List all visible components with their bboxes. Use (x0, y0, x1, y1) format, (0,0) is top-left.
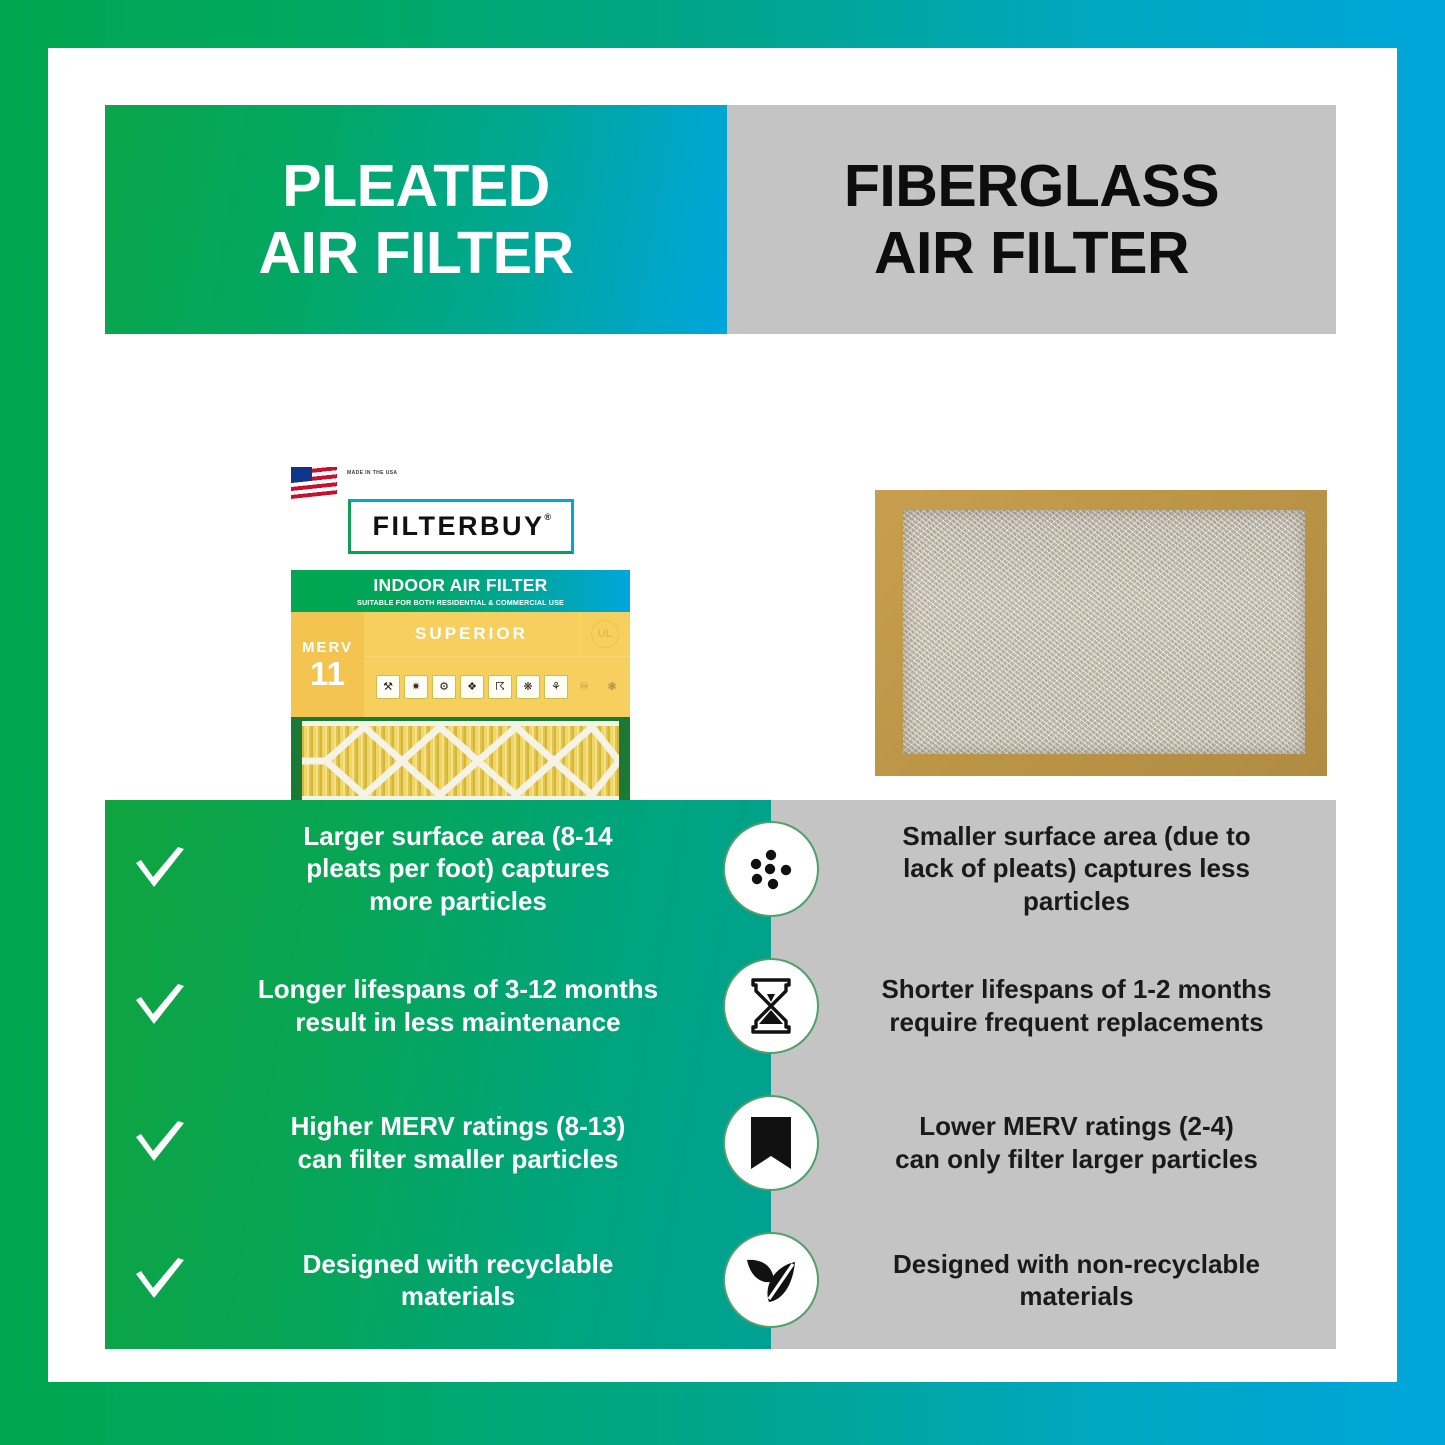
band-main-text: INDOOR AIR FILTER (373, 575, 547, 596)
merv-value: 11 (310, 657, 345, 690)
trademark-symbol: ® (544, 512, 553, 522)
tier-row: SUPERIOR UL (364, 612, 630, 657)
smoke-icon: ♾ (572, 675, 596, 699)
checkmark-icon (127, 1258, 193, 1302)
feature-right-cell: Smaller surface area (due to lack of ple… (771, 820, 1336, 918)
hourglass-icon (723, 958, 819, 1054)
feature-right-cell: Shorter lifespans of 1-2 months require … (771, 973, 1336, 1039)
feature-comparison-grid: Larger surface area (8-14 pleats per foo… (105, 800, 1336, 1349)
feature-row: Larger surface area (8-14 pleats per foo… (105, 800, 1336, 937)
merv-section: MERV 11 SUPERIOR UL ⚒ (291, 612, 630, 717)
feature-row: Designed with recyclable materials (105, 1212, 1336, 1349)
product-box-top: MADE IN THE USA FILTERBUY® (291, 467, 630, 570)
leaves-icon (723, 1232, 819, 1328)
bookmark-ribbon-icon (723, 1095, 819, 1191)
feature-left-cell: Higher MERV ratings (8-13) can filter sm… (105, 1110, 771, 1176)
white-card: PLEATED AIR FILTER FIBERGLASS AIR FILTER… (48, 48, 1397, 1382)
feature-center-icon (723, 1095, 819, 1191)
feature-right-text: Shorter lifespans of 1-2 months require … (833, 973, 1320, 1039)
merv-details: SUPERIOR UL ⚒ ✷ ⚙ ❖ ☈ (364, 612, 630, 717)
fiberglass-mesh (903, 510, 1305, 754)
header-pleated-title: PLEATED AIR FILTER (248, 153, 583, 286)
ul-seal-icon: UL (591, 620, 619, 648)
mold-spores-icon: ❖ (460, 675, 484, 699)
feature-right-text: Smaller surface area (due to lack of ple… (833, 820, 1320, 918)
feature-row: Longer lifespans of 3-12 months result i… (105, 937, 1336, 1074)
feature-center-icon (723, 1232, 819, 1328)
feature-rows: Larger surface area (8-14 pleats per foo… (105, 800, 1336, 1349)
feature-right-cell: Lower MERV ratings (2-4) can only filter… (771, 1110, 1336, 1176)
checkmark-icon (127, 847, 193, 891)
dust-icon: ⚒ (376, 675, 400, 699)
content-area: PLEATED AIR FILTER FIBERGLASS AIR FILTER… (105, 105, 1336, 1349)
tier-label: SUPERIOR (364, 624, 579, 644)
virus-icon: ⚙ (432, 675, 456, 699)
band-sub-text: SUITABLE FOR BOTH RESIDENTIAL & COMMERCI… (357, 598, 564, 607)
indoor-air-filter-band: INDOOR AIR FILTER SUITABLE FOR BOTH RESI… (291, 570, 630, 612)
pleat-media (302, 721, 619, 802)
feature-right-cell: Designed with non-recyclable materials (771, 1248, 1336, 1314)
fiberglass-filter-product-image (875, 490, 1327, 776)
feature-left-text: Higher MERV ratings (8-13) can filter sm… (193, 1110, 771, 1176)
feature-left-text: Larger surface area (8-14 pleats per foo… (193, 820, 771, 918)
merv-label: MERV (302, 639, 353, 656)
checkmark-icon (127, 984, 193, 1028)
made-in-usa-label: MADE IN THE USA (347, 470, 397, 477)
feature-right-text: Designed with non-recyclable materials (833, 1248, 1320, 1314)
feature-left-cell: Designed with recyclable materials (105, 1248, 771, 1314)
header-fiberglass-title: FIBERGLASS AIR FILTER (834, 153, 1229, 286)
feature-right-text: Lower MERV ratings (2-4) can only filter… (833, 1110, 1320, 1176)
feature-center-icon (723, 958, 819, 1054)
brand-word: FILTERBUY (373, 511, 545, 541)
comparison-infographic: PLEATED AIR FILTER FIBERGLASS AIR FILTER… (0, 0, 1445, 1445)
filterbuy-logo-text: FILTERBUY® (373, 511, 545, 542)
pollen-icon: ☈ (488, 675, 512, 699)
usa-flag-icon (291, 467, 337, 499)
header-fiberglass: FIBERGLASS AIR FILTER (727, 105, 1336, 334)
pleated-filter-product-image: MADE IN THE USA FILTERBUY® INDOOR AIR FI… (291, 467, 630, 820)
checkmark-icon (127, 1121, 193, 1165)
wire-support-grid (302, 721, 619, 802)
feature-row: Higher MERV ratings (8-13) can filter sm… (105, 1075, 1336, 1212)
product-images-row: MADE IN THE USA FILTERBUY® INDOOR AIR FI… (105, 334, 1336, 800)
bacteria-icon: ⚘ (544, 675, 568, 699)
feature-left-cell: Larger surface area (8-14 pleats per foo… (105, 820, 771, 918)
header-band: PLEATED AIR FILTER FIBERGLASS AIR FILTER (105, 105, 1336, 334)
odor-icon: ❃ (600, 675, 624, 699)
feature-left-text: Longer lifespans of 3-12 months result i… (193, 973, 771, 1039)
feature-left-cell: Longer lifespans of 3-12 months result i… (105, 973, 771, 1039)
particles-icon (723, 821, 819, 917)
capture-icons-row: ⚒ ✷ ⚙ ❖ ☈ ❋ ⚘ ♾ ❃ (364, 657, 630, 717)
feature-center-icon (723, 821, 819, 917)
merv-badge: MERV 11 (291, 612, 364, 717)
pet-dander-icon: ❋ (516, 675, 540, 699)
feature-left-text: Designed with recyclable materials (193, 1248, 771, 1314)
insect-icon: ✷ (404, 675, 428, 699)
certification-seal: UL (579, 612, 630, 656)
header-pleated: PLEATED AIR FILTER (105, 105, 727, 334)
filterbuy-logo-box: FILTERBUY® (348, 499, 574, 554)
